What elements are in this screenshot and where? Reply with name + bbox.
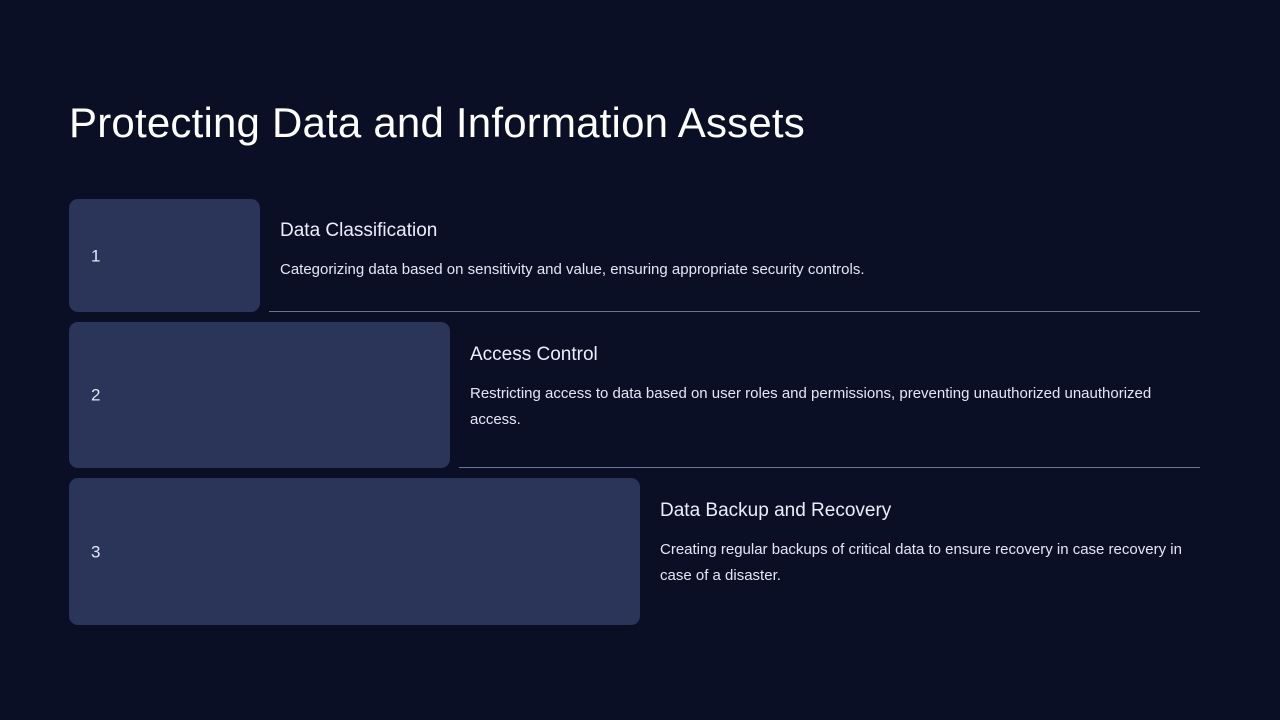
- step-description: Restricting access to data based on user…: [470, 367, 1180, 433]
- row-divider: [459, 467, 1200, 468]
- step-text-block-1: Data Classification Categorizing data ba…: [280, 220, 1200, 283]
- step-description: Categorizing data based on sensitivity a…: [280, 243, 1200, 283]
- step-number-label: 3: [91, 543, 100, 560]
- step-description: Creating regular backups of critical dat…: [660, 523, 1205, 589]
- step-number-box-2: 2: [69, 322, 450, 468]
- step-heading: Access Control: [470, 344, 1180, 367]
- slide-canvas: Protecting Data and Information Assets 1…: [0, 0, 1280, 720]
- step-heading: Data Classification: [280, 220, 1200, 243]
- step-text-block-2: Access Control Restricting access to dat…: [470, 344, 1180, 432]
- step-text-block-3: Data Backup and Recovery Creating regula…: [660, 500, 1205, 588]
- step-number-label: 2: [91, 387, 100, 404]
- step-heading: Data Backup and Recovery: [660, 500, 1205, 523]
- step-number-box-1: 1: [69, 199, 260, 312]
- row-divider: [269, 311, 1200, 312]
- page-title: Protecting Data and Information Assets: [69, 99, 805, 147]
- step-number-box-3: 3: [69, 478, 640, 625]
- step-number-label: 1: [91, 247, 100, 264]
